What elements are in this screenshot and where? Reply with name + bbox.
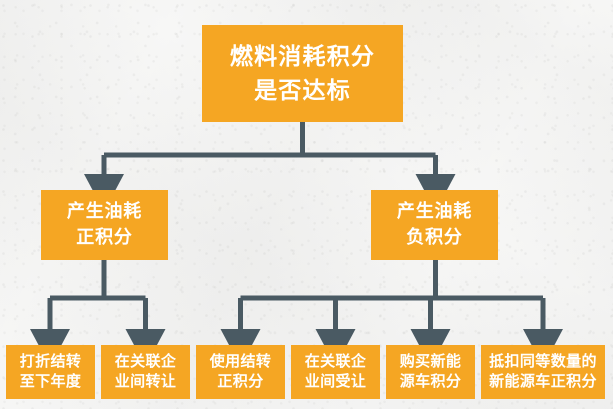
node-offset-nev-line-2: 新能源车正积分	[489, 372, 597, 392]
node-transfer-line-1: 在关联企	[115, 352, 177, 372]
node-carryover-line-2: 至下年度	[20, 372, 82, 392]
node-use-carryover-line-2: 正积分	[217, 372, 263, 392]
node-discount-carryover-next-year[interactable]: 打折结转 至下年度	[6, 345, 95, 399]
node-positive-credit-line-2: 正积分	[76, 225, 132, 251]
node-receive-transfer-line-2: 业间受让	[305, 372, 367, 392]
node-use-carryover-positive-credit[interactable]: 使用结转 正积分	[196, 345, 285, 399]
node-purchase-nev-line-2: 源车积分	[400, 372, 462, 392]
flowchart-canvas: 燃料消耗积分 是否达标 产生油耗 正积分 产生油耗 负积分 打折结转 至下年度 …	[0, 0, 613, 409]
node-positive-credit-line-1: 产生油耗	[67, 199, 142, 225]
node-transfer-line-2: 业间转让	[115, 372, 177, 392]
node-transfer-among-affiliates[interactable]: 在关联企 业间转让	[101, 345, 190, 399]
node-use-carryover-line-1: 使用结转	[210, 352, 272, 372]
node-receive-from-affiliates[interactable]: 在关联企 业间受让	[291, 345, 380, 399]
node-negative-credit-line-1: 产生油耗	[397, 199, 472, 225]
node-purchase-nev-line-1: 购买新能	[400, 352, 462, 372]
node-offset-nev-line-1: 抵扣同等数量的	[489, 352, 597, 372]
node-offset-equivalent-nev-credit[interactable]: 抵扣同等数量的 新能源车正积分	[481, 345, 605, 399]
node-root-line-2: 是否达标	[254, 74, 351, 107]
node-negative-credit-line-2: 负积分	[406, 225, 462, 251]
node-receive-transfer-line-1: 在关联企	[305, 352, 367, 372]
node-negative-fuel-credit[interactable]: 产生油耗 负积分	[371, 190, 498, 260]
node-positive-fuel-credit[interactable]: 产生油耗 正积分	[41, 190, 168, 260]
node-root-fuel-consumption-credit[interactable]: 燃料消耗积分 是否达标	[202, 25, 403, 122]
node-root-line-1: 燃料消耗积分	[230, 40, 375, 73]
node-purchase-nev-credit[interactable]: 购买新能 源车积分	[386, 345, 475, 399]
node-carryover-line-1: 打折结转	[20, 352, 82, 372]
